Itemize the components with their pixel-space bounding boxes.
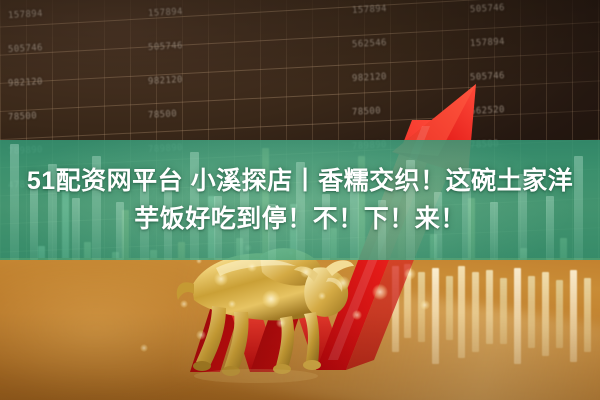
chart-bar [542,272,549,356]
chart-bar [472,272,479,352]
chart-tick-label: 157894 [8,9,43,21]
headline-line-2: 芋饭好吃到停！不！下！来！ [134,202,466,236]
headline-block: 51配资网平台 小溪探店丨香糯交织！这碗土家洋 芋饭好吃到停！不！下！来！ [0,140,600,260]
chart-tick-label: 562520 [470,105,505,117]
chart-tick-label: 78500 [352,106,382,118]
chart-bar [584,278,591,352]
chart-tick-label: 505746 [470,71,505,83]
chart-bar [570,270,577,362]
chart-bar [514,268,521,364]
chart-tick-label: 157894 [470,37,505,49]
chart-tick-label: 157894 [352,4,387,16]
chart-tick-label: 157894 [148,7,183,19]
chart-tick-label: 982120 [352,72,387,84]
chart-tick-label: 982120 [148,75,183,87]
chart-tick-label: 505746 [8,43,43,55]
chart-tick-label: 505746 [148,41,183,53]
chart-bar [500,278,507,344]
banner-image: 1578945057469821207850078989047891015789… [0,0,600,400]
chart-bar [392,266,399,352]
chart-bar [418,272,425,342]
chart-bar [528,276,535,348]
chart-bar [446,276,453,340]
chart-bar [458,266,465,358]
chart-tick-label: 505746 [470,3,505,15]
chart-tick-label: 562546 [352,38,387,50]
chart-bar [404,264,411,338]
chart-tick-label: 982120 [8,77,43,89]
chart-bar [556,280,563,348]
floor-glow [0,268,300,400]
chart-tick-label: 78500 [148,109,178,121]
chart-bar [486,270,493,344]
chart-bar [432,268,439,364]
headline-line-1: 51配资网平台 小溪探店丨香糯交织！这碗土家洋 [27,164,573,198]
chart-tick-label: 78500 [8,111,38,123]
